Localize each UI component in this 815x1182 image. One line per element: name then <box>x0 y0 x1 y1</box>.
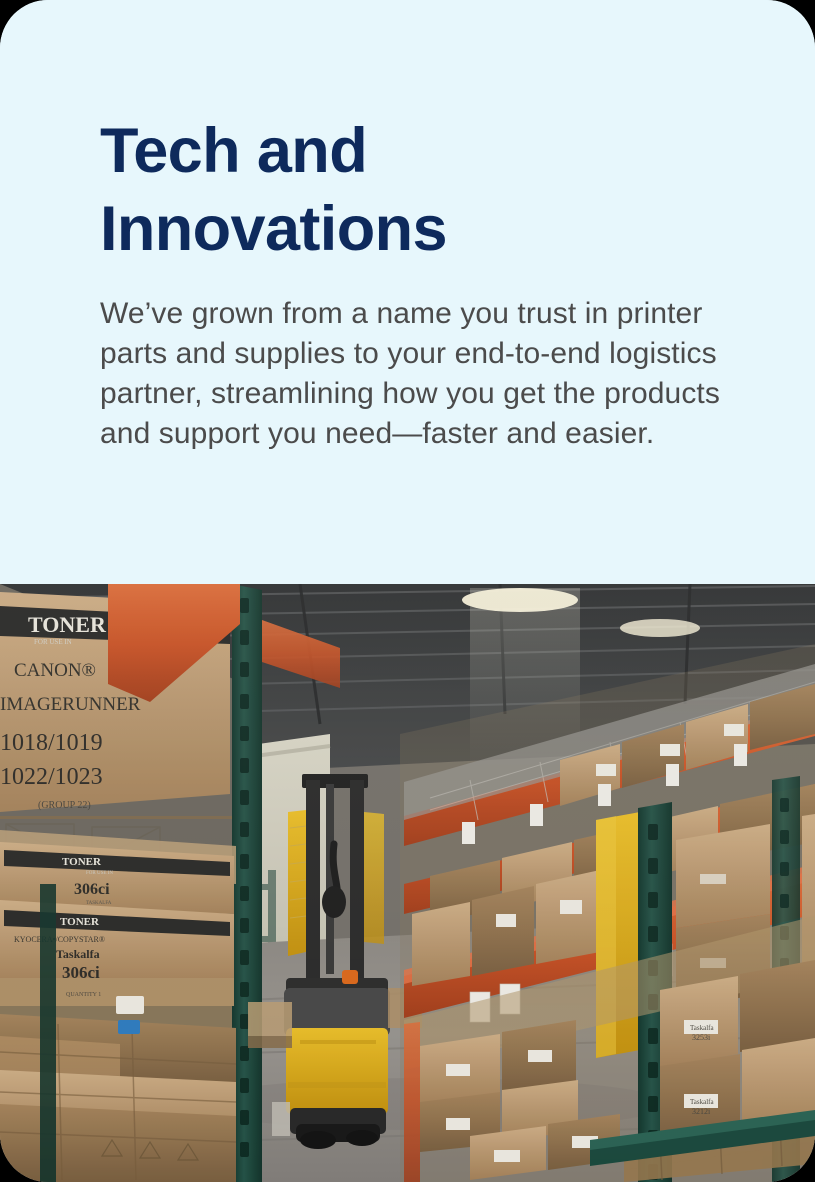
hero-section: Tech and Innovations We’ve grown from a … <box>0 0 815 584</box>
warehouse-photo: TONER FOR USE IN CANON® IMAGERUNNER 1018… <box>0 584 815 1182</box>
warehouse-photo-illustration: TONER FOR USE IN CANON® IMAGERUNNER 1018… <box>0 584 815 1182</box>
hero-description: We’ve grown from a name you trust in pri… <box>100 294 720 454</box>
page-title: Tech and Innovations <box>100 112 447 268</box>
tech-and-innovations-card: Tech and Innovations We’ve grown from a … <box>0 0 815 1182</box>
